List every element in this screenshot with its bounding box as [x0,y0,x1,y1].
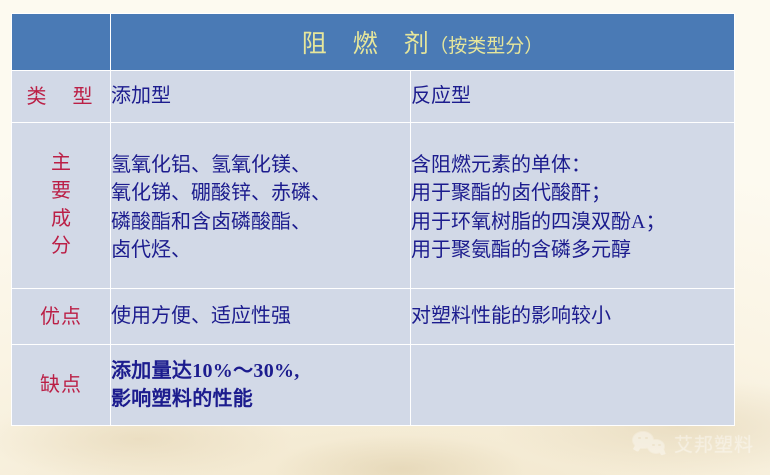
header-corner-cell [12,14,111,71]
watermark: 艾邦塑料 [633,430,754,457]
cell-line: 用于聚酯的卤代酸酐； [411,179,734,207]
cell-components-additive: 氢氧化铝、氢氧化镁、 氧化锑、硼酸锌、赤磷、 磷酸酯和含卤磷酸酯、 卤代烃、 [111,123,411,289]
cell-type-additive: 添加型 [111,71,411,123]
cell-line: 用于聚氨酯的含磷多元醇 [411,236,734,264]
cell-cons-additive: 添加量达10%～30%, 影响塑料的性能 [111,345,411,426]
table-title-sub: （按类型分） [429,36,543,57]
table-row-pros: 优点 使用方便、适应性强 对塑料性能的影响较小 [12,289,735,345]
wechat-bubble-small [648,440,664,453]
table-title-main: 阻 燃 剂 [302,31,430,58]
cell-line: 卤代烃、 [111,236,410,264]
table-row-components: 主 要 成 分 氢氧化铝、氢氧化镁、 氧化锑、硼酸锌、赤磷、 磷酸酯和含卤磷酸酯… [12,123,735,289]
flame-retardant-table: 阻 燃 剂（按类型分） 类 型 添加型 反应型 [11,13,735,426]
cell-type-reactive: 反应型 [411,71,735,123]
cell-line: 磷酸酯和含卤磷酸酯、 [111,208,410,236]
wechat-eye [645,437,648,440]
cell-line: 氧化锑、硼酸锌、赤磷、 [111,179,410,207]
cell-pros-reactive: 对塑料性能的影响较小 [411,289,735,345]
label-char: 主 [12,150,110,178]
row-label-pros: 优点 [12,289,111,345]
cell-line: 用于环氧树脂的四溴双酚A； [411,208,734,236]
wechat-eye [652,444,655,447]
row-label-components: 主 要 成 分 [12,123,111,289]
table-title-cell: 阻 燃 剂（按类型分） [111,14,735,71]
wechat-eye [638,437,641,440]
cell-line: 添加量达10%～30%, [111,357,410,385]
cell-cons-reactive [411,345,735,426]
row-label-cons: 缺点 [12,345,111,426]
cell-line: 反应型 [411,82,734,110]
table-row-type: 类 型 添加型 反应型 [12,71,735,123]
flame-retardant-table-container: 阻 燃 剂（按类型分） 类 型 添加型 反应型 [11,13,734,425]
cell-line: 使用方便、适应性强 [111,302,410,330]
wechat-icon [633,432,667,456]
label-char: 分 [12,233,110,261]
cell-line: 影响塑料的性能 [111,385,410,413]
cell-line: 含阻燃元素的单体： [411,151,734,179]
table-row-cons: 缺点 添加量达10%～30%, 影响塑料的性能 [12,345,735,426]
cell-line: 对塑料性能的影响较小 [411,302,734,330]
cell-pros-additive: 使用方便、适应性强 [111,289,411,345]
table-header-row: 阻 燃 剂（按类型分） [12,14,735,71]
cell-components-reactive: 含阻燃元素的单体： 用于聚酯的卤代酸酐； 用于环氧树脂的四溴双酚A； 用于聚氨酯… [411,123,735,289]
cell-line: 添加型 [111,82,410,110]
wechat-bubble-large-tail [633,443,641,451]
wechat-bubble-large [633,432,653,448]
label-char: 成 [12,206,110,234]
watermark-text: 艾邦塑料 [674,430,754,457]
wechat-eye [658,444,661,447]
vertical-label-stack: 主 要 成 分 [12,150,110,260]
wechat-bubble-small-tail [659,449,665,455]
slide-canvas: 阻 燃 剂（按类型分） 类 型 添加型 反应型 [0,0,770,475]
label-char: 要 [12,178,110,206]
cell-line: 氢氧化铝、氢氧化镁、 [111,151,410,179]
row-label-type: 类 型 [12,71,111,123]
